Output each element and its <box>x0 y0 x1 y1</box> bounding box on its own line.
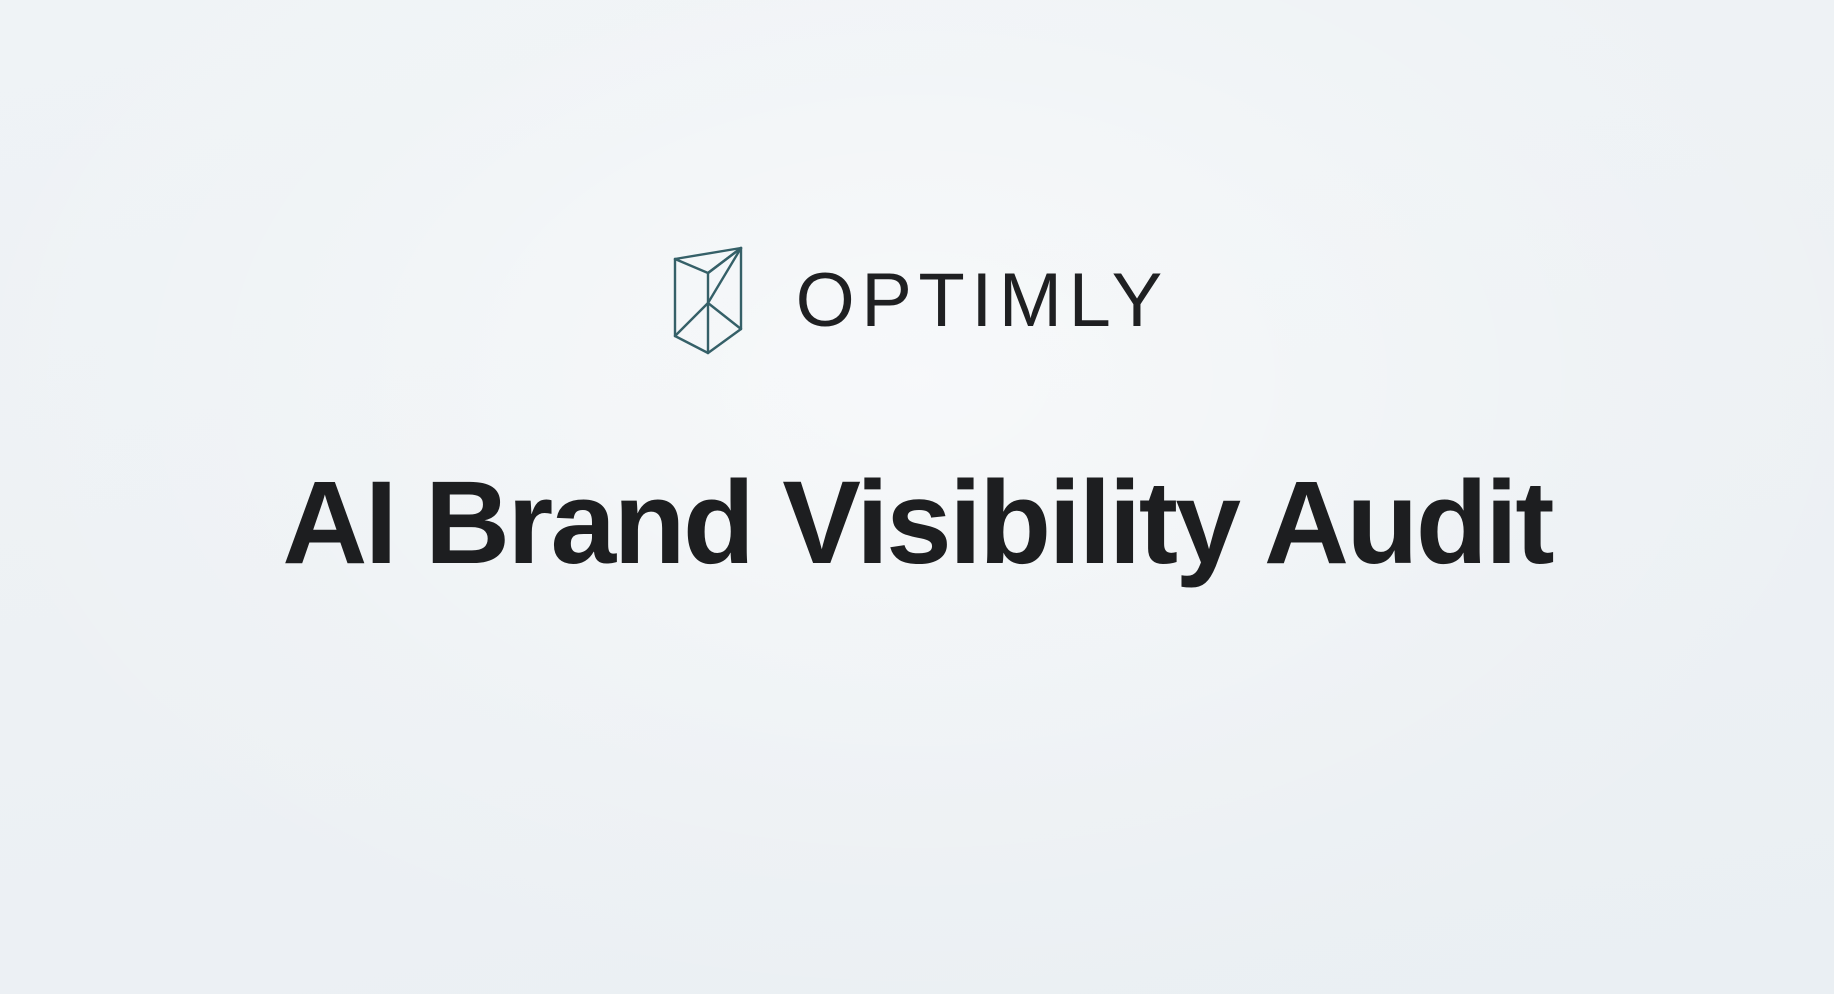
title-slide: OPTIMLY AI Brand Visibility Audit <box>0 0 1834 994</box>
page-title: AI Brand Visibility Audit <box>282 460 1552 587</box>
optimly-wordmark: OPTIMLY <box>796 263 1169 339</box>
headline-container: AI Brand Visibility Audit <box>0 460 1834 587</box>
optimly-prism-logo-icon <box>672 240 744 356</box>
brand-lockup: OPTIMLY <box>0 240 1834 356</box>
